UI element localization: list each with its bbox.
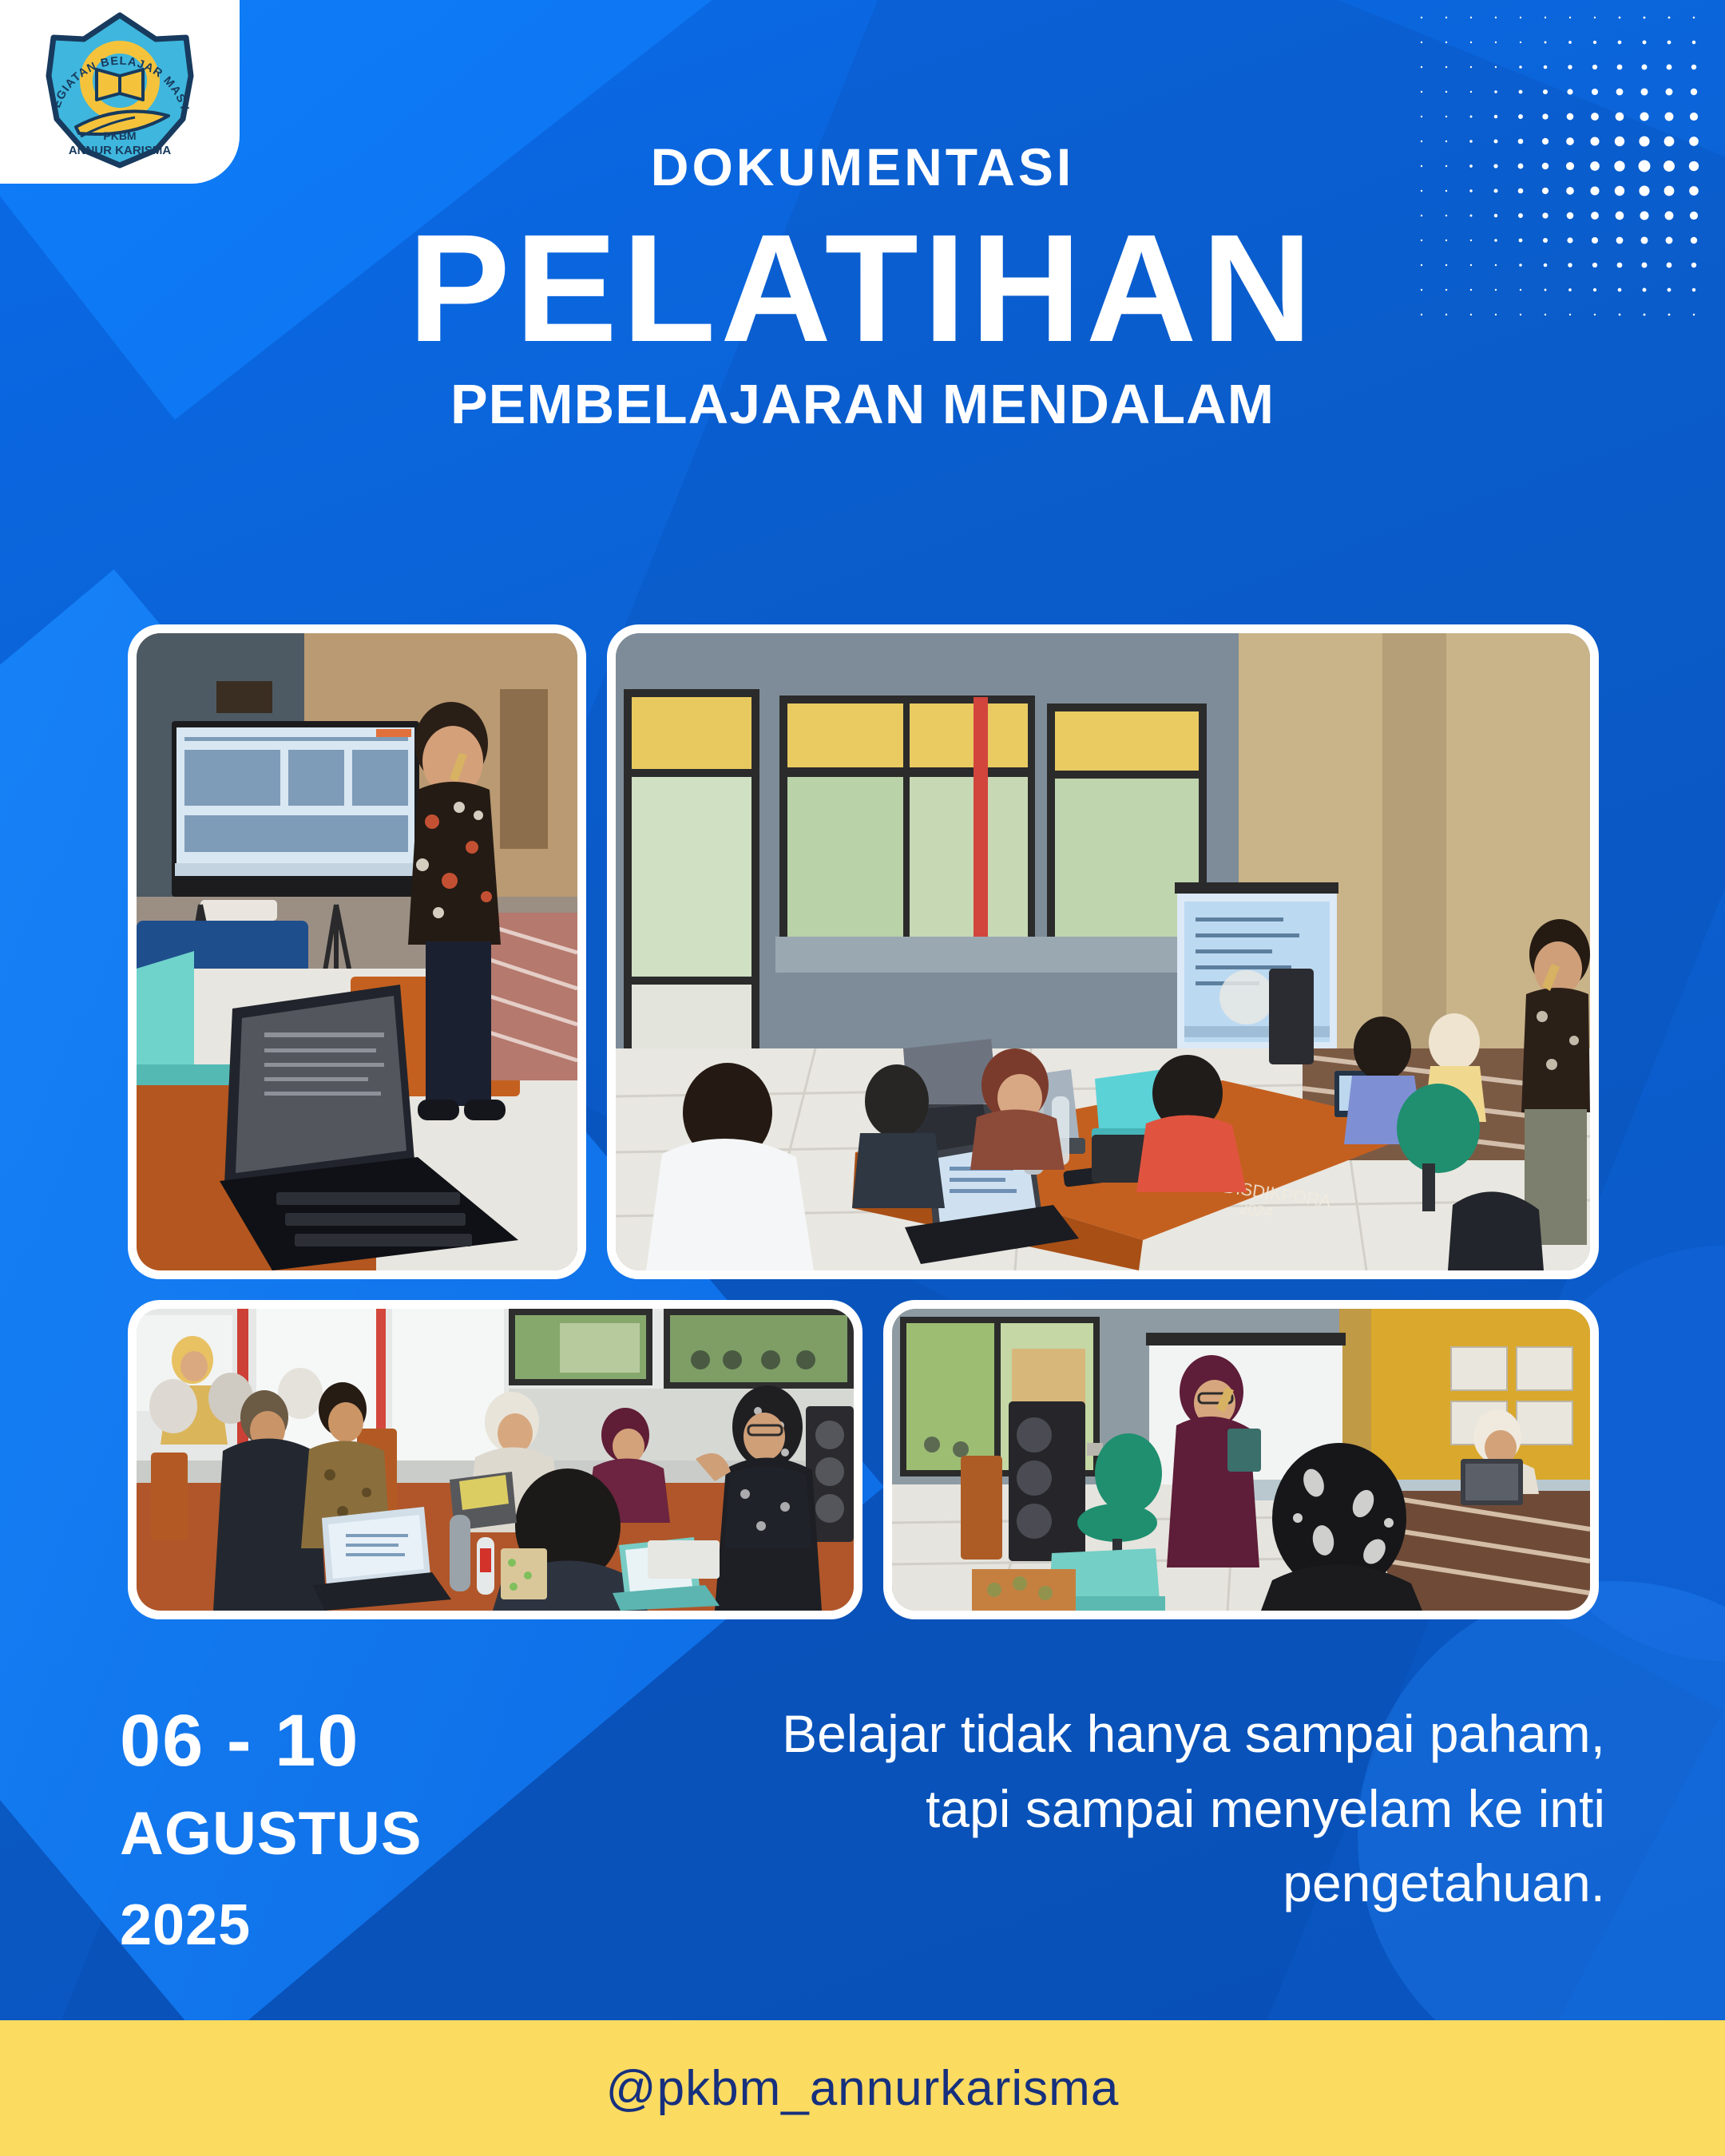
quote-text: Belajar tidak hanya sampai paham, tapi s… xyxy=(655,1697,1605,1921)
photo-frame-4 xyxy=(883,1300,1599,1619)
quote-line-2: tapi sampai menyelam ke inti xyxy=(655,1772,1605,1847)
photo-1-image xyxy=(137,633,577,1270)
page-title: PELATIHAN xyxy=(0,208,1725,369)
event-date-block: 06 - 10 AGUSTUS 2025 xyxy=(120,1701,422,1961)
logo-line-2: ANNUR KARISMA xyxy=(68,144,170,157)
page-subtitle: PEMBELAJARAN MENDALAM xyxy=(0,374,1725,435)
logo-line-1: PKBM xyxy=(103,129,136,142)
photo-frame-3 xyxy=(128,1300,862,1619)
event-year: 2025 xyxy=(120,1889,422,1961)
photo-4-image xyxy=(892,1309,1590,1611)
event-month: AGUSTUS xyxy=(120,1796,422,1872)
photo-gallery: DISDIKPORA 2024 xyxy=(128,624,1599,1619)
photo-frame-2: DISDIKPORA 2024 xyxy=(607,624,1599,1279)
poster-canvas: PUSAT KEGIATAN BELAJAR MASYARAKAT PKBM A… xyxy=(0,0,1725,2156)
quote-line-1: Belajar tidak hanya sampai paham, xyxy=(655,1697,1605,1772)
photo-frame-1 xyxy=(128,624,586,1279)
logo-badge-container: PUSAT KEGIATAN BELAJAR MASYARAKAT PKBM A… xyxy=(0,0,240,184)
social-handle[interactable]: @pkbm_annurkarisma xyxy=(606,2060,1120,2117)
photo-2-image: DISDIKPORA 2024 xyxy=(616,633,1590,1270)
quote-line-3: pengetahuan. xyxy=(655,1846,1605,1921)
poster-header: DOKUMENTASI PELATIHAN PEMBELAJARAN MENDA… xyxy=(0,140,1725,435)
photo-row-bottom xyxy=(128,1300,1599,1619)
footer-bar: @pkbm_annurkarisma xyxy=(0,2020,1725,2156)
photo-3-image xyxy=(137,1309,854,1611)
photo-row-top: DISDIKPORA 2024 xyxy=(128,624,1599,1279)
kicker-text: DOKUMENTASI xyxy=(0,140,1725,195)
pkbm-logo-icon: PUSAT KEGIATAN BELAJAR MASYARAKAT PKBM A… xyxy=(34,10,206,174)
event-date-range: 06 - 10 xyxy=(120,1701,422,1781)
